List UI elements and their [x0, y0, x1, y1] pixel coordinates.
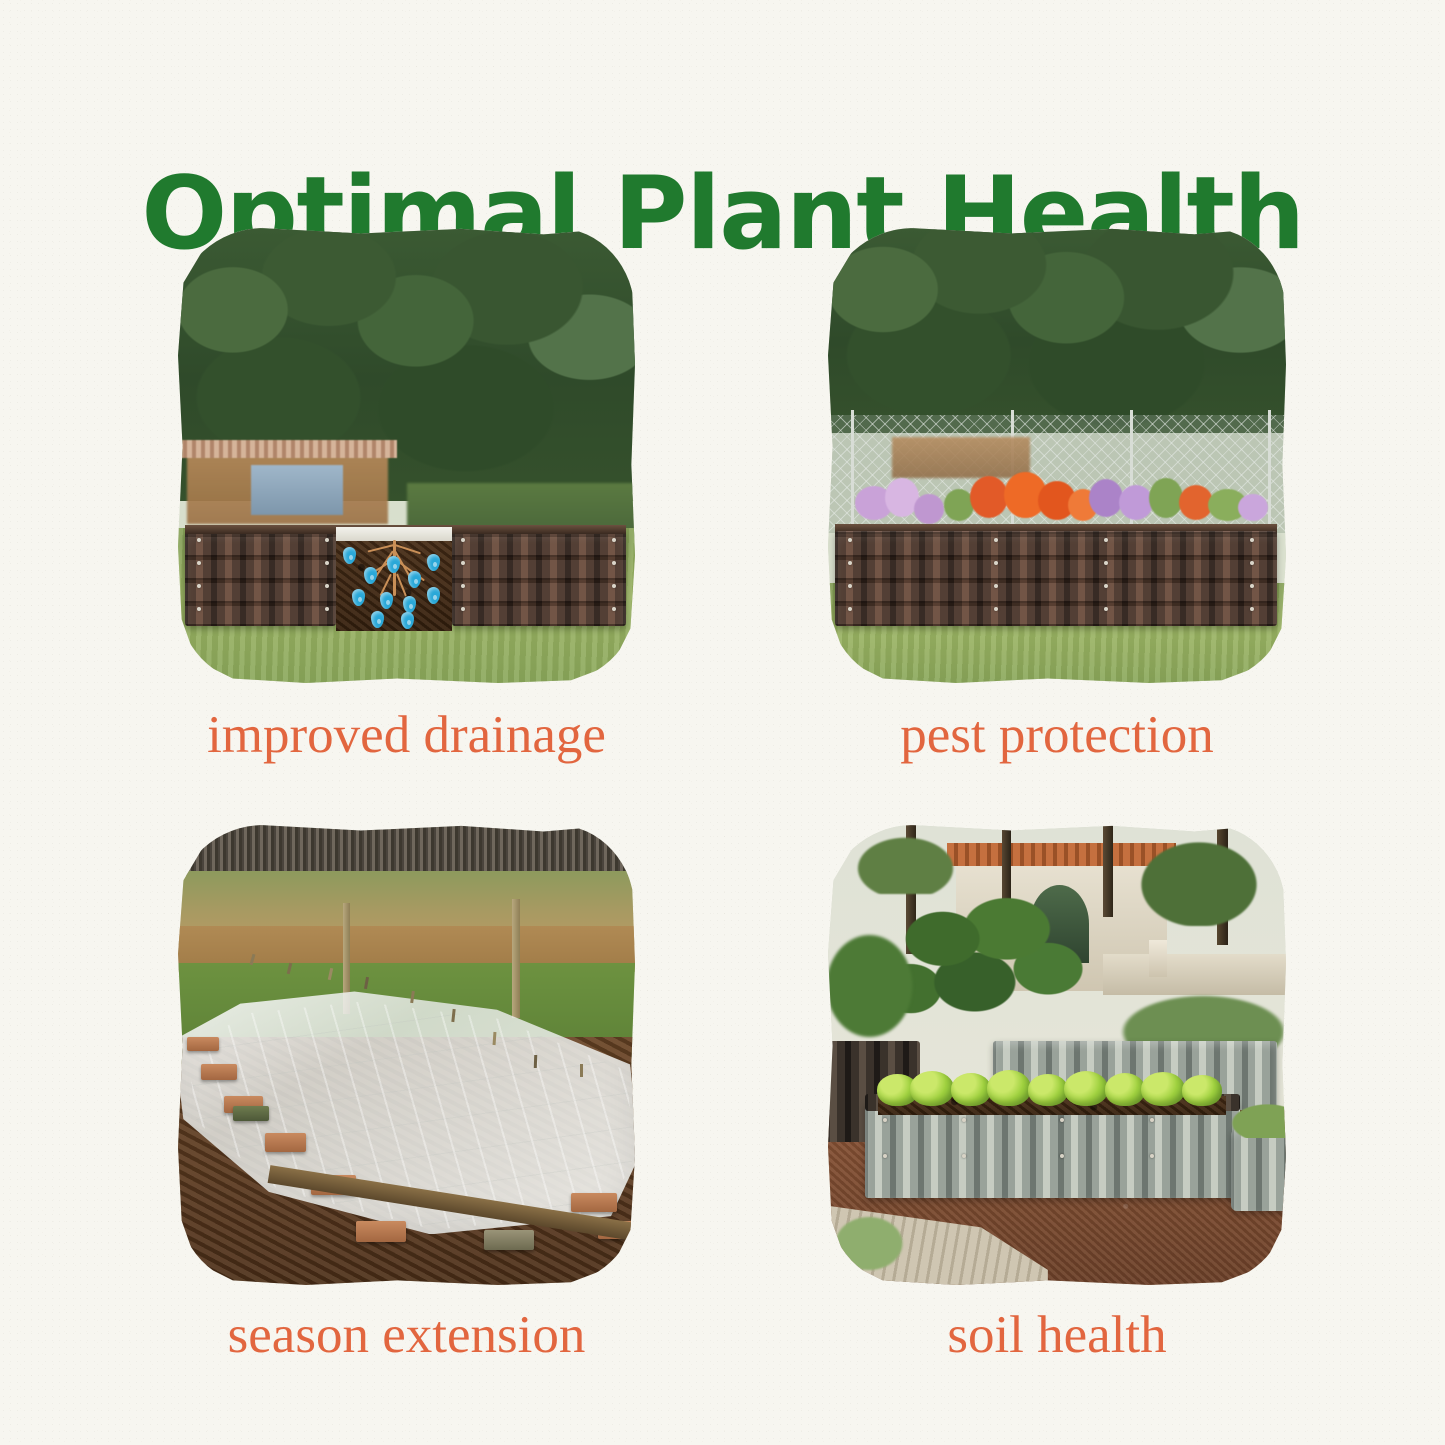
water-droplets: [336, 540, 453, 631]
raised-bed-left: [185, 531, 336, 627]
panel-season-extension[interactable]: [178, 825, 635, 1285]
panel-soil-health[interactable]: [828, 825, 1286, 1285]
caption-soil-health: soil health: [828, 1305, 1286, 1365]
raised-bed: [835, 531, 1277, 627]
caption-improved-drainage: improved drainage: [178, 705, 635, 765]
panel-improved-drainage[interactable]: [178, 228, 635, 683]
round-planter: [1231, 1129, 1286, 1212]
caption-pest-protection: pest protection: [828, 705, 1286, 765]
garden-wall: [1103, 954, 1286, 995]
infographic-page: Optimal Plant Health: [0, 0, 1445, 1445]
photo-pest-protection: [828, 228, 1286, 683]
lettuce-row: [874, 1064, 1240, 1110]
tree-line: [828, 228, 1286, 433]
raised-bed-right: [452, 531, 626, 627]
wall-pillar: [1149, 940, 1167, 977]
shrub: [828, 926, 920, 1046]
house-roof: [178, 440, 397, 458]
panel-pest-protection[interactable]: [828, 228, 1286, 683]
photo-improved-drainage: [178, 228, 635, 683]
palm-trunk: [1103, 825, 1113, 917]
planter-greens: [1226, 1101, 1286, 1138]
photo-season-extension: [178, 825, 635, 1285]
caption-season-extension: season extension: [178, 1305, 635, 1365]
palm-fronds: [846, 830, 965, 894]
house-windows: [251, 465, 342, 515]
photo-soil-health: [828, 825, 1286, 1285]
raised-bed-main: [865, 1101, 1241, 1198]
foreground-plant: [828, 1211, 910, 1275]
palm-fronds: [1130, 834, 1267, 926]
